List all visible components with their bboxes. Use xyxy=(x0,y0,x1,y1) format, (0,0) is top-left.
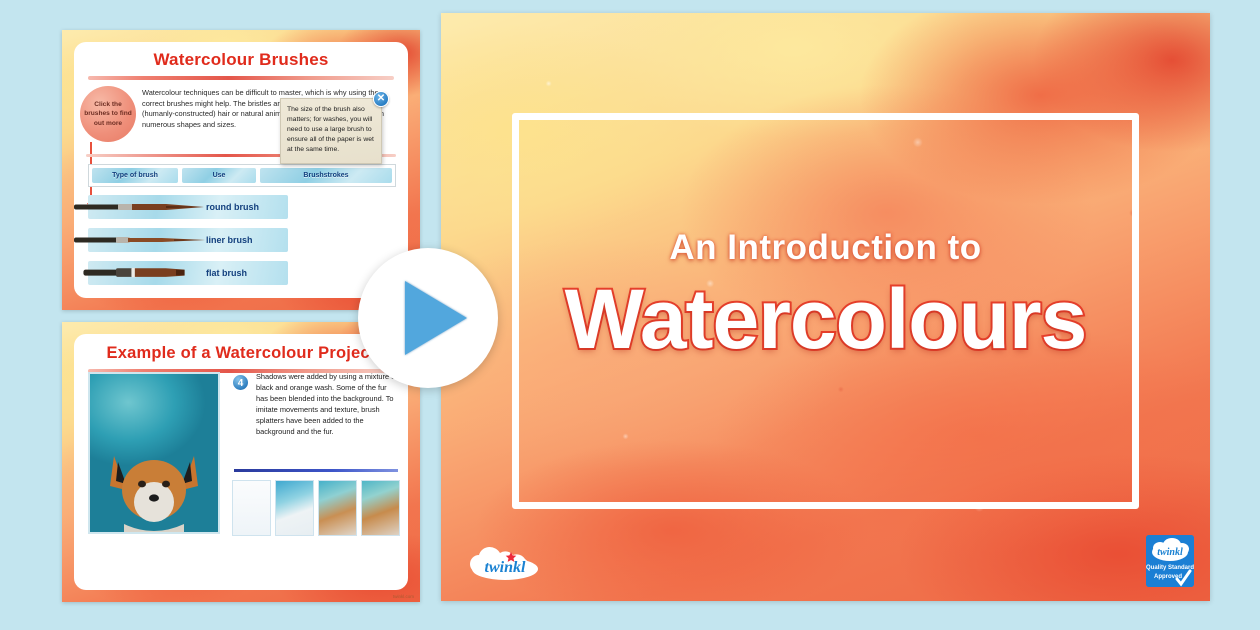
twinkl-logo: twinkl xyxy=(463,539,547,585)
close-icon[interactable]: ✕ xyxy=(373,91,389,107)
slide-card: Example of a Watercolour Project 4 Sh xyxy=(74,334,408,590)
table-header-use: Use xyxy=(182,168,256,183)
brush-label: liner brush xyxy=(206,235,253,245)
slide-title: Watercolours xyxy=(441,271,1210,368)
title-divider xyxy=(88,76,394,80)
step-description: Shadows were added by using a mixture of… xyxy=(256,372,398,438)
slide-thumbnail-project-example[interactable]: Example of a Watercolour Project 4 Sh xyxy=(62,322,420,602)
table-row[interactable]: liner brush xyxy=(88,226,396,253)
step-image-3[interactable] xyxy=(318,480,357,536)
round-brush-icon[interactable] xyxy=(74,201,206,213)
info-popup-text: The size of the brush also matters; for … xyxy=(287,106,374,153)
section-divider xyxy=(234,469,398,472)
table-header-type: Type of brush xyxy=(92,168,178,183)
page-title: Watercolour Brushes xyxy=(74,42,408,74)
main-slide-preview[interactable]: An Introduction to Watercolours twinkl t… xyxy=(441,13,1210,601)
slide-thumbnail-watercolour-brushes[interactable]: Watercolour Brushes Click the brushes to… xyxy=(62,30,420,310)
info-popup: The size of the brush also matters; for … xyxy=(280,98,382,164)
fox-illustration xyxy=(100,440,208,534)
quality-standard-badge: twinkl Quality Standard Approved xyxy=(1146,535,1194,587)
preview-stage: Watercolour Brushes Click the brushes to… xyxy=(0,0,1260,630)
svg-text:Quality Standard: Quality Standard xyxy=(1146,565,1194,571)
table-header-brushstrokes: Brushstrokes xyxy=(260,168,392,183)
brush-label: round brush xyxy=(206,202,259,212)
svg-text:twinkl: twinkl xyxy=(1157,547,1183,558)
play-icon xyxy=(405,281,467,355)
table-row[interactable]: round brush xyxy=(88,193,396,220)
brush-label: flat brush xyxy=(206,268,247,278)
click-brushes-callout[interactable]: Click the brushes to find out more xyxy=(80,86,136,142)
slide-kicker: An Introduction to xyxy=(441,228,1210,268)
svg-text:twinkl: twinkl xyxy=(485,559,526,576)
step-number-badge: 4 xyxy=(232,374,249,391)
step-image-1[interactable] xyxy=(232,480,271,536)
slide-card: Watercolour Brushes Click the brushes to… xyxy=(74,42,408,298)
play-button[interactable] xyxy=(358,248,498,388)
brush-table: Type of brush Use Brushstrokes round bru… xyxy=(88,164,396,286)
flat-brush-icon[interactable] xyxy=(74,267,206,279)
progress-thumbnail-strip xyxy=(232,480,400,536)
step-image-4[interactable] xyxy=(361,480,400,536)
fox-painting-image xyxy=(88,372,220,534)
page-title: Example of a Watercolour Project xyxy=(74,334,408,367)
copyright-text: twinkl.com xyxy=(393,594,414,599)
table-header-row: Type of brush Use Brushstrokes xyxy=(88,164,396,187)
liner-brush-icon[interactable] xyxy=(74,234,206,246)
step-image-2[interactable] xyxy=(275,480,314,536)
table-row[interactable]: flat brush xyxy=(88,259,396,286)
